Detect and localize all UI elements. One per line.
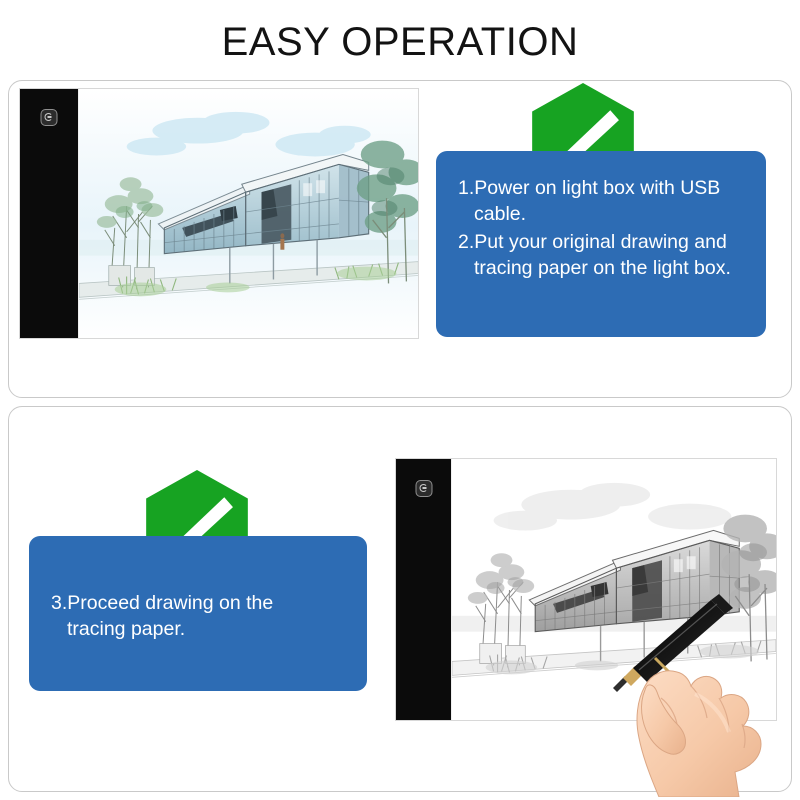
- color-architectural-sketch: [79, 89, 418, 338]
- power-logo-icon[interactable]: [40, 109, 57, 126]
- device-bezel: [396, 459, 451, 720]
- panel-step-1-2: 1.Power on light box with USB cable. 2.P…: [8, 80, 792, 398]
- page-title: EASY OPERATION: [0, 18, 800, 66]
- device-screen: [78, 89, 418, 338]
- instruction-card-step-3: 3.Proceed drawing on the tracing paper.: [29, 536, 367, 691]
- step-item-2: 2.Put your original drawing and tracing …: [458, 229, 746, 281]
- step-item-3: 3.Proceed drawing on the tracing paper.: [51, 590, 347, 642]
- led-light-box-grayscale: [395, 458, 777, 721]
- device-bezel: [20, 89, 78, 338]
- steps-list: 1.Power on light box with USB cable. 2.P…: [458, 175, 746, 281]
- power-logo-icon[interactable]: [415, 480, 432, 497]
- led-light-box-color: [19, 88, 419, 339]
- device-screen: [451, 459, 776, 720]
- panel-step-3: 3.Proceed drawing on the tracing paper.: [8, 406, 792, 792]
- grayscale-architectural-sketch: [452, 459, 776, 720]
- steps-list: 3.Proceed drawing on the tracing paper.: [51, 590, 347, 642]
- instruction-card-step-1-2: 1.Power on light box with USB cable. 2.P…: [436, 151, 766, 337]
- step-item-1: 1.Power on light box with USB cable.: [458, 175, 746, 227]
